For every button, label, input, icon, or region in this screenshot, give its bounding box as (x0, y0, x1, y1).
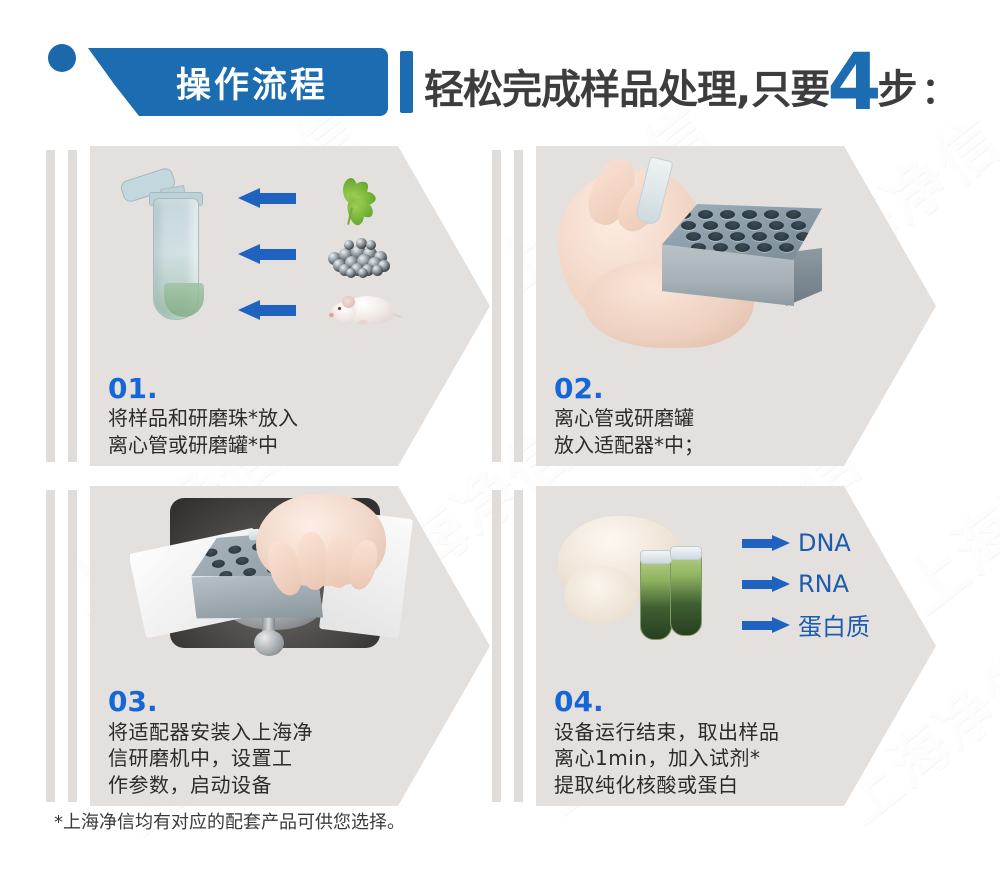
footer-note: *上海净信均有对应的配套产品可供您选择。 (54, 808, 405, 834)
centrifuge-tube-photo (90, 146, 490, 351)
adapter-well (211, 559, 225, 569)
adapter-well (698, 210, 713, 219)
sample-input-row-leaf (90, 180, 490, 218)
page-title-part1: 轻松完成样品处理 (424, 57, 736, 115)
adapter-well (681, 221, 696, 230)
step-panel-body: 03. 将适配器安装入上海净 信研磨机中，设置工 作参数，启动设备 (90, 486, 490, 806)
step-text-line: 设备运行结束，取出样品 (554, 719, 884, 745)
adapter-well (752, 232, 767, 241)
page-title-step-count: 4 (827, 52, 879, 114)
panel-accent-bar-inner (68, 490, 77, 802)
adapter-well (204, 548, 218, 558)
installing-adapter-into-grinder-photo (130, 492, 430, 682)
arrow-left-icon (238, 188, 296, 208)
gloved-hand-holding-sample-tubes-photo (558, 510, 738, 660)
arrow-right-icon (742, 576, 790, 592)
legend-label: 蛋白质 (798, 607, 870, 642)
panel-accent-bar-inner (514, 490, 523, 802)
sample-tube-icon (670, 552, 702, 636)
leaf-icon (328, 176, 388, 226)
adapter-well (735, 243, 750, 252)
adapter-well (228, 545, 242, 555)
step-caption: 03. 将适配器安装入上海净 信研磨机中，设置工 作参数，启动设备 (108, 687, 438, 798)
step-text-line: 离心1min，加入试剂* (554, 745, 884, 771)
arrow-left-icon (238, 300, 296, 320)
adapter-well (730, 232, 745, 241)
step-number: 03. (108, 687, 438, 716)
step-number: 04. (554, 687, 884, 716)
panel-accent-bar-outer (492, 490, 501, 802)
grinding-beads-icon (326, 234, 394, 274)
step-text-line: 离心管或研磨罐 (554, 405, 884, 431)
adapter-well (796, 232, 811, 241)
step-text-line: 将样品和研磨珠*放入 (108, 405, 438, 431)
page-title: 轻松完成样品处理 , 只要 4 步 ： (424, 46, 958, 118)
adapter-well (720, 210, 735, 219)
step-caption: 02. 离心管或研磨罐 放入适配器*中； (554, 374, 884, 458)
step-panel-01: 01. 将样品和研磨珠*放入 离心管或研磨罐*中 (46, 146, 494, 466)
arrow-left-icon (238, 244, 296, 264)
panel-accent-bar-outer (46, 150, 55, 462)
panel-accent-bar-inner (514, 150, 523, 462)
step-panel-body: 02. 离心管或研磨罐 放入适配器*中； (536, 146, 936, 466)
panel-accent-bar-outer (492, 150, 501, 462)
adapter-well (243, 567, 257, 577)
header-dot-decoration (48, 44, 76, 72)
banner-label: 操作流程 (88, 48, 388, 116)
tube-cap (640, 550, 672, 564)
step-number: 02. (554, 374, 884, 403)
step-number: 01. (108, 374, 438, 403)
step-text-line: 离心管或研磨罐*中 (108, 432, 438, 458)
arrow-right-icon (742, 535, 790, 551)
step-caption: 04. 设备运行结束，取出样品 离心1min，加入试剂* 提取纯化核酸或蛋白 (554, 687, 884, 798)
grinder-knob (254, 630, 284, 656)
page-title-part2: 只要 (751, 57, 829, 115)
output-legend: DNA RNA 蛋白质 (742, 522, 922, 645)
adapter-well (791, 221, 806, 230)
legend-item-protein: 蛋白质 (742, 604, 922, 645)
gloved-thumb (564, 566, 638, 624)
step-text-line: 将适配器安装入上海净 (108, 719, 438, 745)
adapter-well (703, 221, 718, 230)
legend-label: DNA (798, 529, 851, 557)
step-panel-03: 03. 将适配器安装入上海净 信研磨机中，设置工 作参数，启动设备 (46, 486, 494, 806)
step-text-line: 信研磨机中，设置工 (108, 745, 438, 771)
adapter-well (725, 221, 740, 230)
legend-item-dna: DNA (742, 522, 922, 563)
adapter-well (235, 556, 249, 566)
header-accent-bar (400, 51, 413, 113)
step-text-line: 提取纯化核酸或蛋白 (554, 772, 884, 798)
step-text-line: 放入适配器*中； (554, 432, 884, 458)
adapter-well (676, 210, 691, 219)
adapter-well (708, 232, 723, 241)
adapter-well (779, 243, 794, 252)
step-text-line: 作参数，启动设备 (108, 772, 438, 798)
page-header: 操作流程 轻松完成样品处理 , 只要 4 步 ： (0, 0, 1000, 140)
step-panel-body: DNA RNA 蛋白质 04. 设备运行结束，取出样品 (536, 486, 936, 806)
adapter-well (774, 232, 789, 241)
adapter-well (713, 243, 728, 252)
page-title-part3: 步 (877, 57, 917, 115)
sample-input-row-beads (90, 236, 490, 274)
steps-container: 01. 将样品和研磨珠*放入 离心管或研磨罐*中 (0, 146, 1000, 796)
step-panel-body: 01. 将样品和研磨珠*放入 离心管或研磨罐*中 (90, 146, 490, 466)
arrow-right-icon (742, 617, 790, 633)
adapter-well (786, 210, 801, 219)
sample-input-row-mouse (90, 292, 490, 330)
adapter-well (764, 210, 779, 219)
mouse-icon (328, 286, 400, 332)
legend-item-rna: RNA (742, 563, 922, 604)
adapter-well (686, 232, 701, 241)
panel-accent-bar-outer (46, 490, 55, 802)
step-caption: 01. 将样品和研磨珠*放入 离心管或研磨罐*中 (108, 374, 438, 458)
hand-holding-adapter-block-photo (550, 152, 880, 352)
panel-accent-bar-inner (68, 150, 77, 462)
step-panel-02: 02. 离心管或研磨罐 放入适配器*中； (492, 146, 940, 466)
step-panel-04: DNA RNA 蛋白质 04. 设备运行结束，取出样品 (492, 486, 940, 806)
adapter-well (769, 221, 784, 230)
sample-tube-icon (640, 556, 672, 640)
adapter-block-icon (662, 204, 822, 310)
page-title-colon: ： (917, 62, 957, 114)
process-banner: 操作流程 (88, 48, 388, 116)
adapter-well (747, 221, 762, 230)
adapter-well (742, 210, 757, 219)
adapter-well (757, 243, 772, 252)
page-title-comma: , (736, 67, 751, 113)
tube-cap (670, 546, 702, 560)
legend-label: RNA (798, 570, 849, 598)
